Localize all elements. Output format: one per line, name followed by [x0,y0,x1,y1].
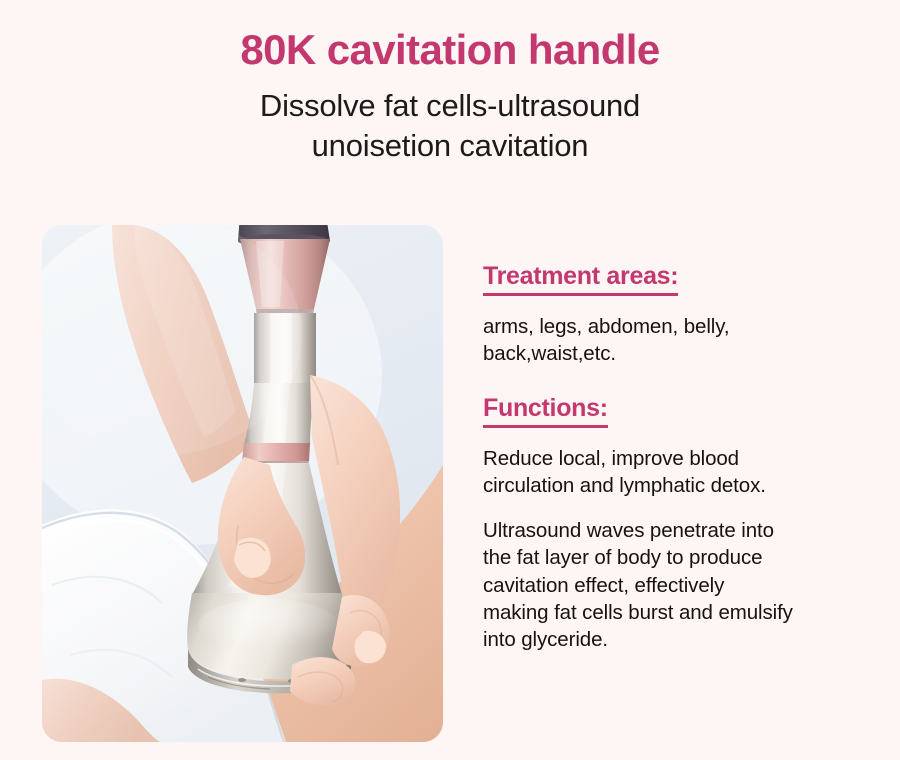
page-title: 80K cavitation handle [0,0,900,74]
subtitle-line-2: unoisetion cavitation [0,126,900,166]
treatment-areas-text: arms, legs, abdomen, belly, back,waist,e… [483,296,883,368]
info-column: Treatment areas: arms, legs, abdomen, be… [483,262,883,653]
page-subtitle: Dissolve fat cells-ultrasound unoisetion… [0,74,900,165]
cavitation-handle-treatment-photo [42,225,443,742]
treatment-areas-line-1: arms, legs, abdomen, belly, [483,313,883,340]
photo-illustration [42,225,443,742]
functions-p2-line-2: the fat layer of body to produce [483,544,883,571]
header: 80K cavitation handle Dissolve fat cells… [0,0,900,165]
functions-p2-line-4: making fat cells burst and emulsify [483,599,883,626]
functions-p1-line-1: Reduce local, improve blood [483,445,883,472]
treatment-areas-line-2: back,waist,etc. [483,340,883,367]
functions-text-paragraph-2: Ultrasound waves penetrate into the fat … [483,499,883,653]
functions-heading: Functions: [483,394,608,428]
section-treatment-areas: Treatment areas: arms, legs, abdomen, be… [483,262,883,368]
functions-p2-line-3: cavitation effect, effectively [483,572,883,599]
functions-p2-line-5: into glyceride. [483,626,883,653]
subtitle-line-1: Dissolve fat cells-ultrasound [0,86,900,126]
functions-p2-line-1: Ultrasound waves penetrate into [483,517,883,544]
treatment-areas-heading: Treatment areas: [483,262,678,296]
functions-text-paragraph-1: Reduce local, improve blood circulation … [483,428,883,500]
section-functions: Functions: Reduce local, improve blood c… [483,394,883,654]
functions-p1-line-2: circulation and lymphatic detox. [483,472,883,499]
